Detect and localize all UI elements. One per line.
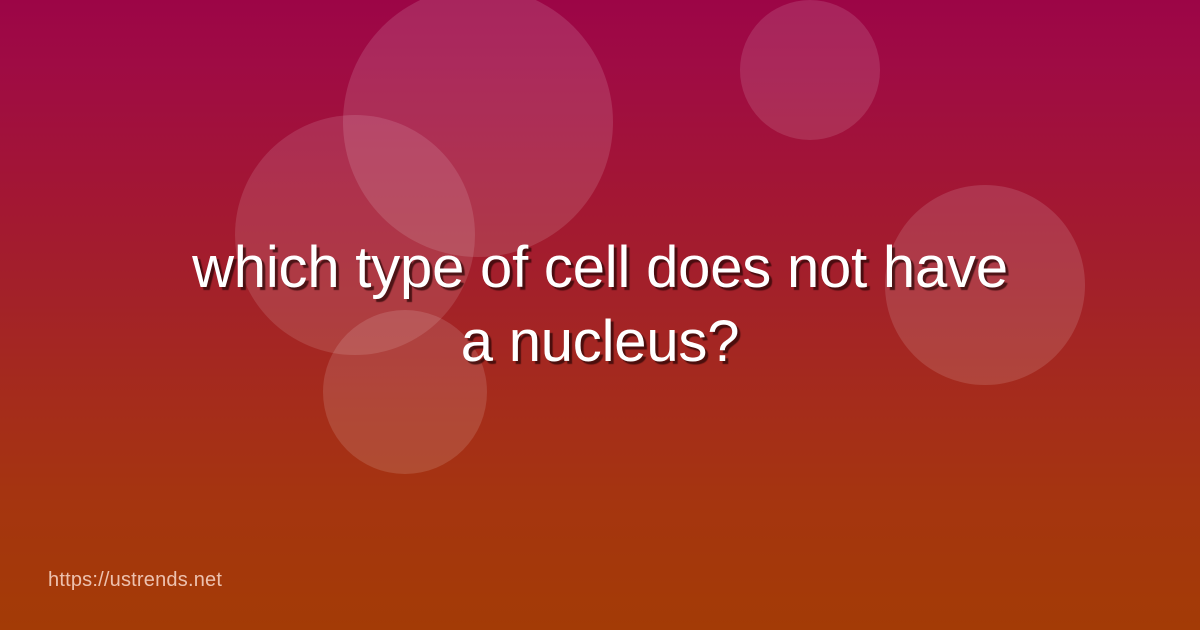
site-url-watermark: https://ustrends.net	[48, 568, 222, 592]
question-card: which type of cell does not have a nucle…	[0, 0, 1200, 630]
circle-top-right-small-shape	[740, 0, 880, 140]
circle-top-center-large-shape	[343, 0, 613, 257]
question-title: which type of cell does not have a nucle…	[0, 231, 1200, 379]
